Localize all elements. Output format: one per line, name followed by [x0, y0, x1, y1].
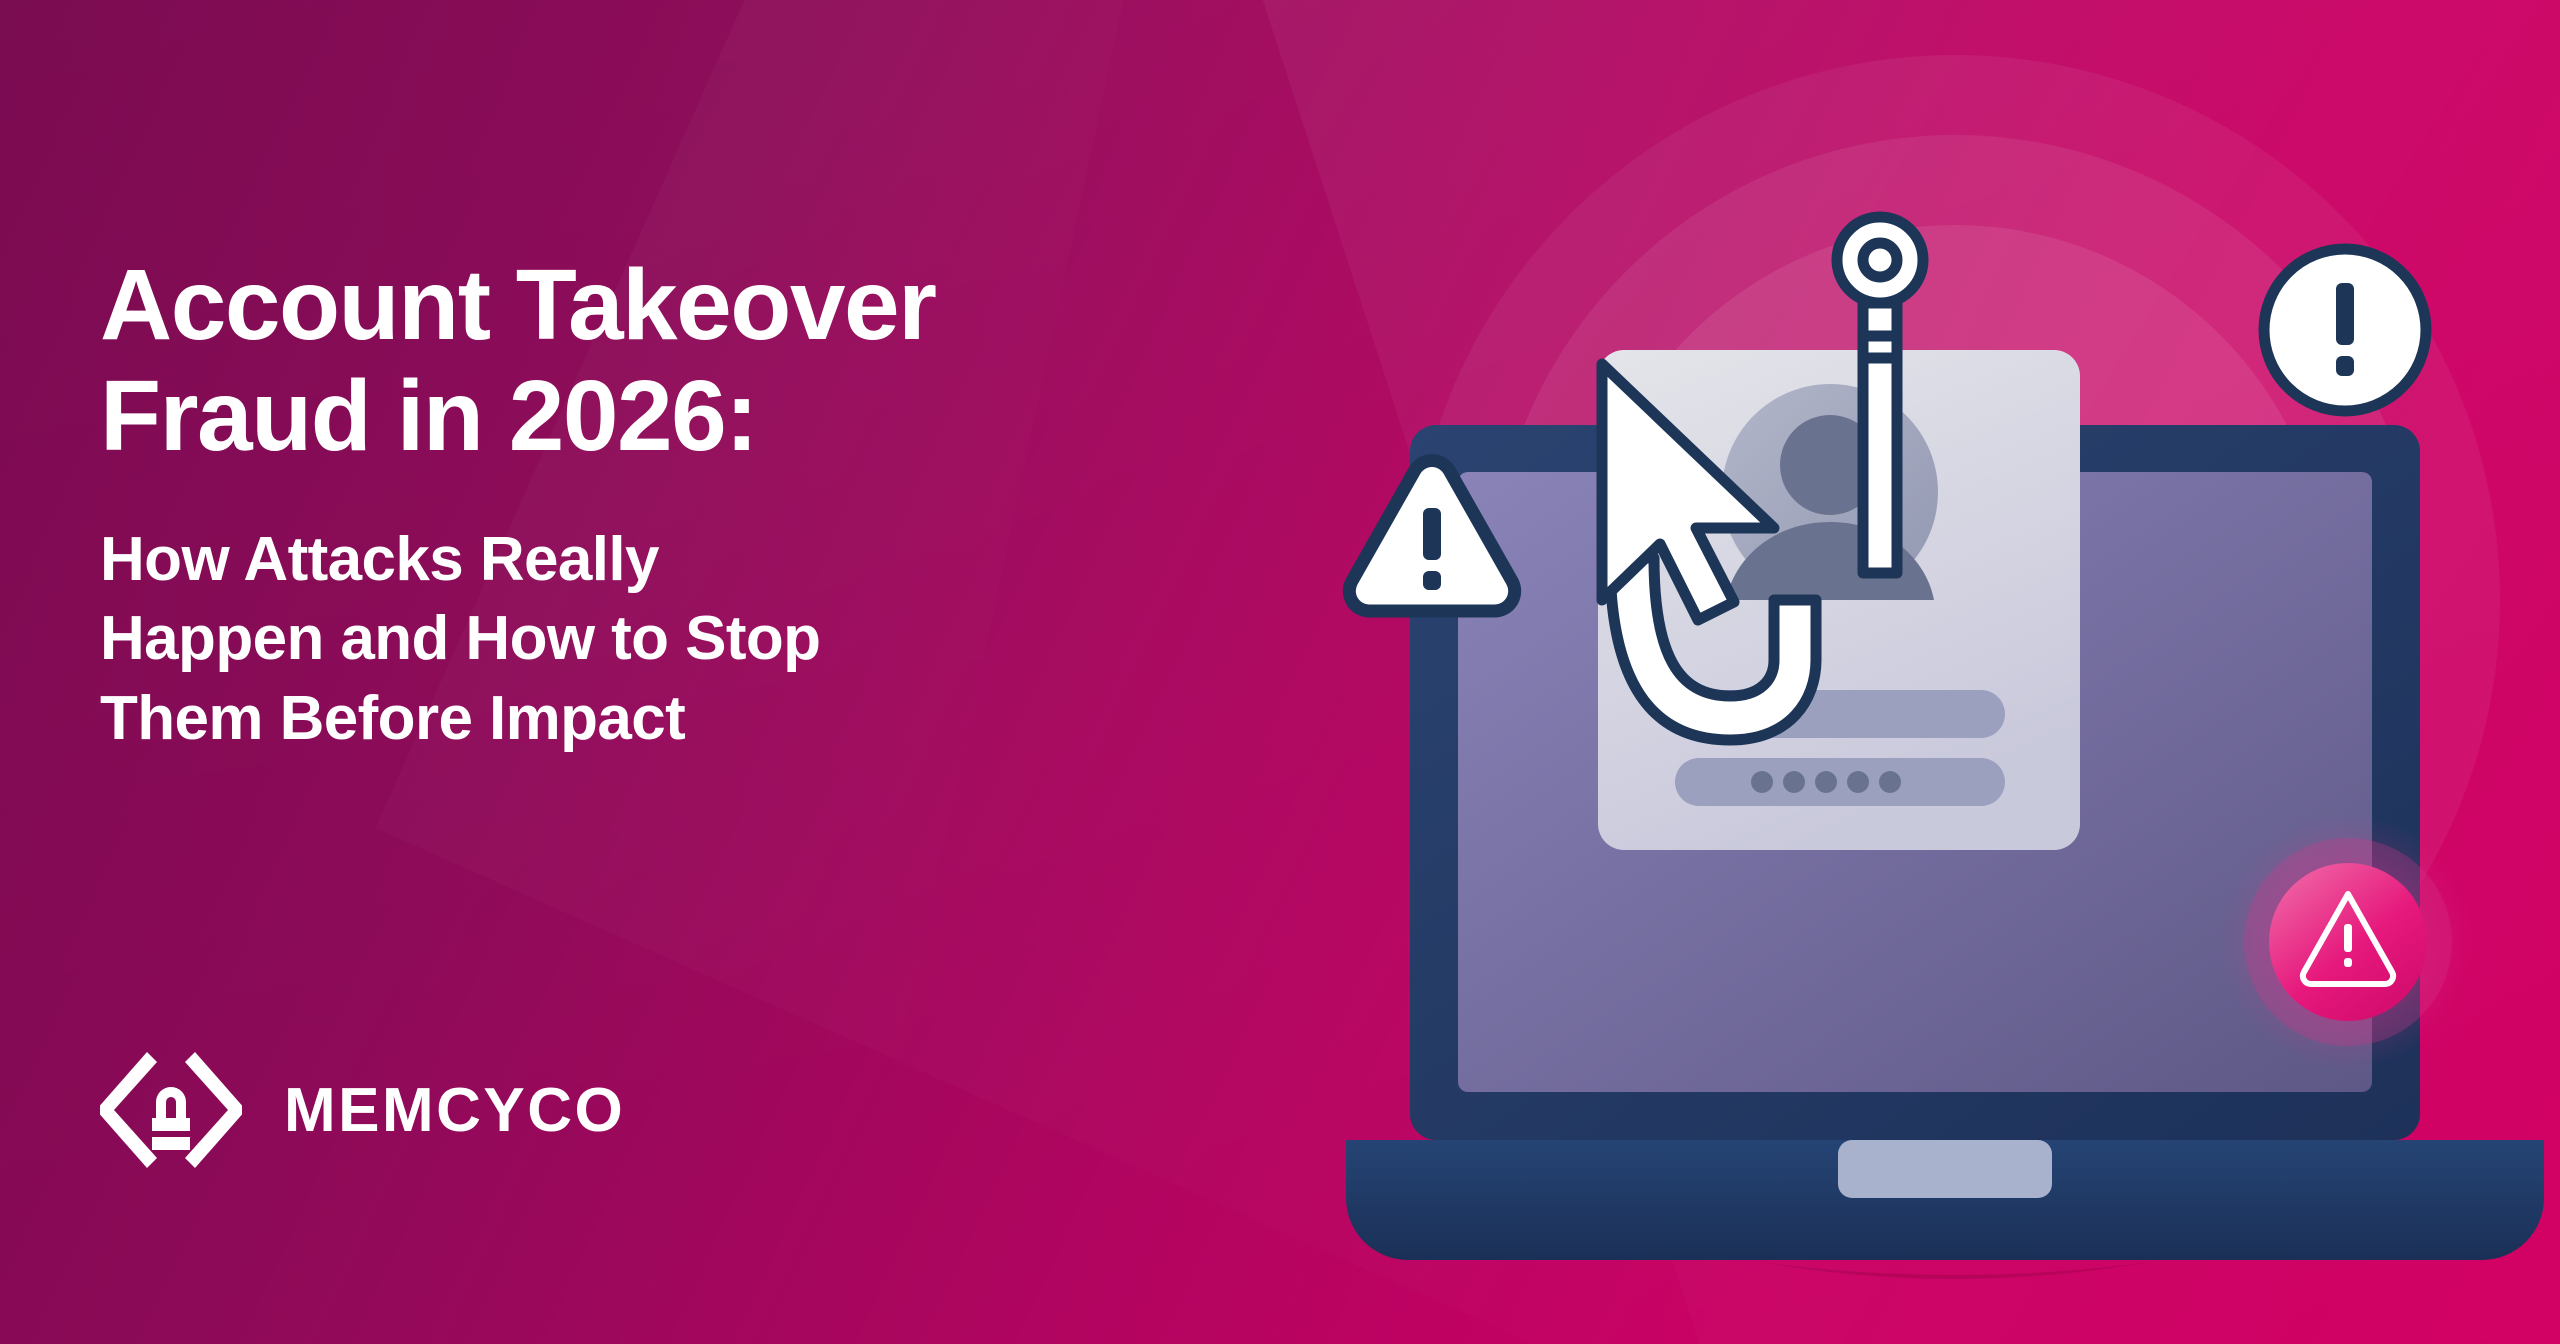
- page-subtitle: How Attacks Really Happen and How to Sto…: [100, 520, 1280, 758]
- alert-circle-icon: [2264, 249, 2426, 411]
- brand-logo: MEMCYCO: [100, 1040, 625, 1180]
- page-title-line-2: Fraud in 2026:: [100, 361, 1300, 472]
- page-subtitle-line-1: How Attacks Really: [100, 520, 1280, 599]
- text-column: Account Takeover Fraud in 2026: How Atta…: [100, 250, 1280, 758]
- page-subtitle-line-3: Them Before Impact: [100, 679, 1280, 758]
- page-title: Account Takeover Fraud in 2026:: [100, 250, 1300, 472]
- angle-brackets-padlock-icon: [100, 1040, 242, 1180]
- avatar: [1722, 384, 1938, 600]
- page-title-line-1: Account Takeover: [100, 250, 1300, 361]
- brand-wordmark: MEMCYCO: [284, 1075, 625, 1146]
- phishing-account-takeover-illustration: [1330, 40, 2560, 1344]
- password-field: [1675, 758, 2005, 806]
- page-subtitle-line-2: Happen and How to Stop: [100, 599, 1280, 678]
- alert-badge-pink-icon: [2220, 814, 2476, 1070]
